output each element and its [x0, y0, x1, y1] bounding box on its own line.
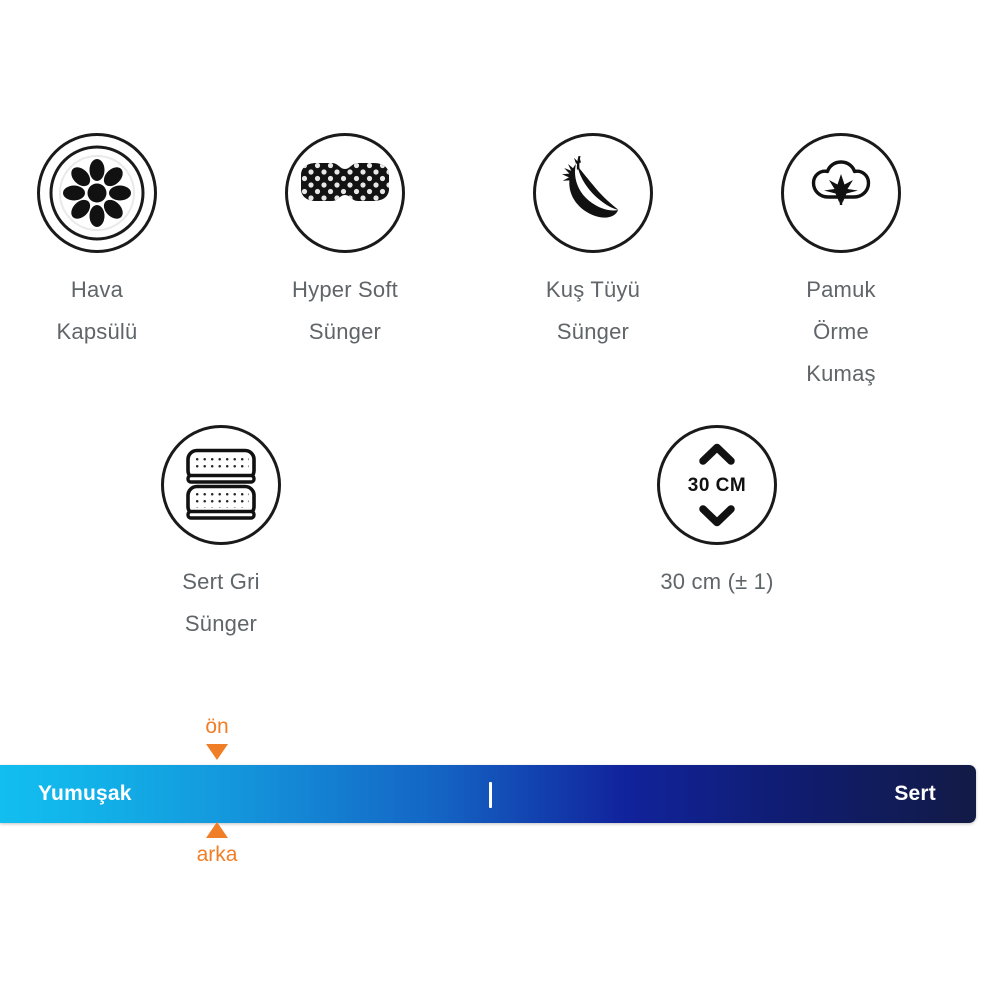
cotton-boll-glyph: [784, 136, 898, 250]
back-marker: arka: [157, 822, 277, 868]
feather-icon: [533, 133, 653, 253]
feature-label: Hyper Soft Sünger: [245, 269, 445, 353]
stacked-foam-icon: [161, 425, 281, 545]
air-capsule-glyph: [40, 136, 154, 250]
front-marker: ön: [157, 714, 277, 760]
hyper-soft-foam-glyph: [288, 136, 402, 250]
feature-hyper-soft: Hyper Soft Sünger: [245, 133, 445, 353]
stacked-foam-glyph: [164, 428, 278, 542]
feature-feather: Kuş Tüyü Sünger: [493, 133, 693, 353]
firmness-midpoint-tick: [489, 782, 492, 808]
feature-grey-foam: Sert Gri Sünger: [121, 425, 321, 645]
feature-label: Sert Gri Sünger: [121, 561, 321, 645]
feature-height: 30 CM 30 cm (± 1): [617, 425, 817, 603]
height-arrows-glyph: 30 CM: [660, 428, 774, 542]
feature-label: 30 cm (± 1): [617, 561, 817, 603]
front-marker-label: ön: [157, 714, 277, 740]
back-marker-arrow-up-icon: [206, 822, 228, 838]
cotton-boll-icon: [781, 133, 901, 253]
firmness-soft-label: Yumuşak: [38, 765, 132, 823]
feature-cotton: Pamuk Örme Kumaş: [741, 133, 941, 395]
height-badge-text: 30 CM: [688, 475, 746, 496]
firmness-scale: ön Yumuşak Sert arka: [0, 700, 1000, 890]
height-arrows-icon: 30 CM: [657, 425, 777, 545]
hyper-soft-foam-icon: [285, 133, 405, 253]
firmness-bar[interactable]: Yumuşak Sert: [0, 765, 976, 823]
firmness-firm-label: Sert: [894, 765, 936, 823]
front-marker-arrow-down-icon: [206, 744, 228, 760]
feature-label: Hava Kapsülü: [0, 269, 197, 353]
feature-label: Pamuk Örme Kumaş: [741, 269, 941, 395]
back-marker-label: arka: [157, 842, 277, 868]
feature-air-capsule: Hava Kapsülü: [0, 133, 197, 353]
feature-label: Kuş Tüyü Sünger: [493, 269, 693, 353]
feather-glyph: [536, 136, 650, 250]
air-capsule-icon: [37, 133, 157, 253]
